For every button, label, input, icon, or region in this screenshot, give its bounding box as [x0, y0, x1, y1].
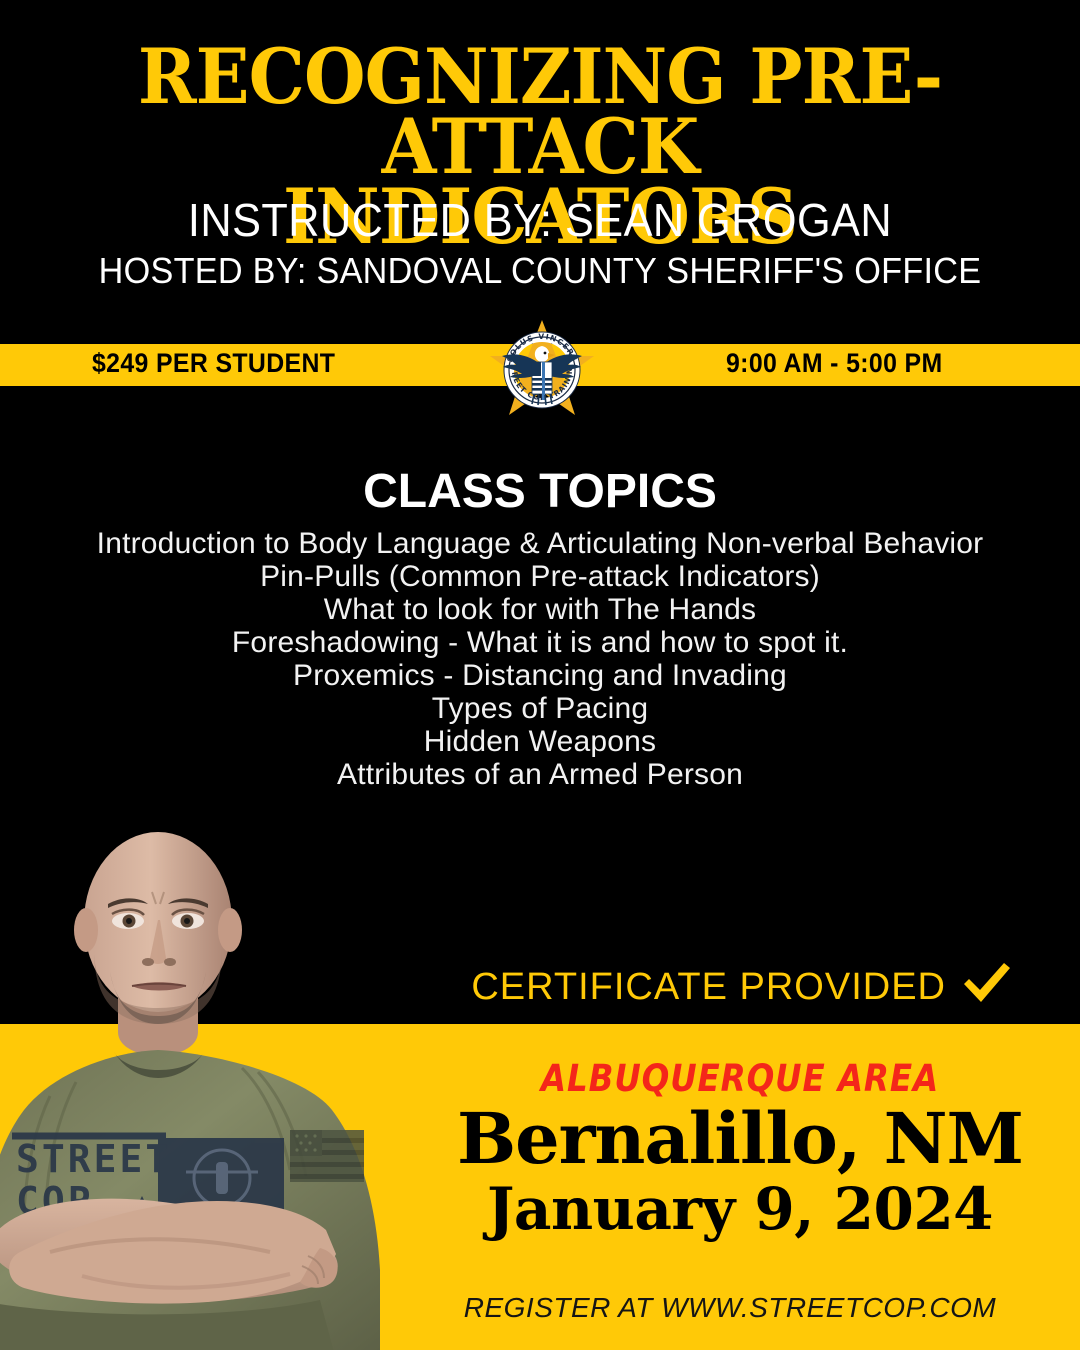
class-topics-heading: CLASS TOPICS [0, 464, 1080, 519]
checkmark-icon [960, 961, 1012, 1015]
host-credit: HOSTED BY: SANDOVAL COUNTY SHERIFF'S OFF… [27, 250, 1053, 292]
date-label: January 9, 2024 [430, 1180, 1050, 1238]
certificate-provided-banner: CERTIFICATE PROVIDED [0, 961, 1080, 1015]
topic-item: Foreshadowing - What it is and how to sp… [0, 626, 1080, 659]
topic-item: Introduction to Body Language & Articula… [0, 527, 1080, 560]
street-cop-training-logo-icon: SOLUS VINCERE STREET COP TRAINING [486, 318, 598, 418]
class-topics-list: Introduction to Body Language & Articula… [0, 527, 1080, 791]
area-label: ALBUQUERQUE AREA [467, 1057, 1013, 1100]
topic-item: Hidden Weapons [0, 725, 1080, 758]
topic-item: Proxemics - Distancing and Invading [0, 659, 1080, 692]
event-flyer: RECOGNIZING PRE-ATTACK INDICATORS INSTRU… [0, 0, 1080, 1350]
certificate-provided-label: CERTIFICATE PROVIDED [471, 966, 946, 1008]
topic-item: Types of Pacing [0, 692, 1080, 725]
title-line-1: RECOGNIZING PRE-ATTACK [38, 42, 1042, 182]
topic-item: Pin-Pulls (Common Pre-attack Indicators) [0, 560, 1080, 593]
topic-item: Attributes of an Armed Person [0, 758, 1080, 791]
topic-item: What to look for with The Hands [0, 593, 1080, 626]
price-label: $249 PER STUDENT [92, 348, 335, 379]
city-label: Bernalillo, NM [430, 1104, 1050, 1174]
instructor-credit: INSTRUCTED BY: SEAN GROGAN [32, 193, 1047, 247]
register-url[interactable]: REGISTER AT WWW.STREETCOP.COM [430, 1292, 1030, 1324]
time-label: 9:00 AM - 5:00 PM [726, 348, 943, 379]
